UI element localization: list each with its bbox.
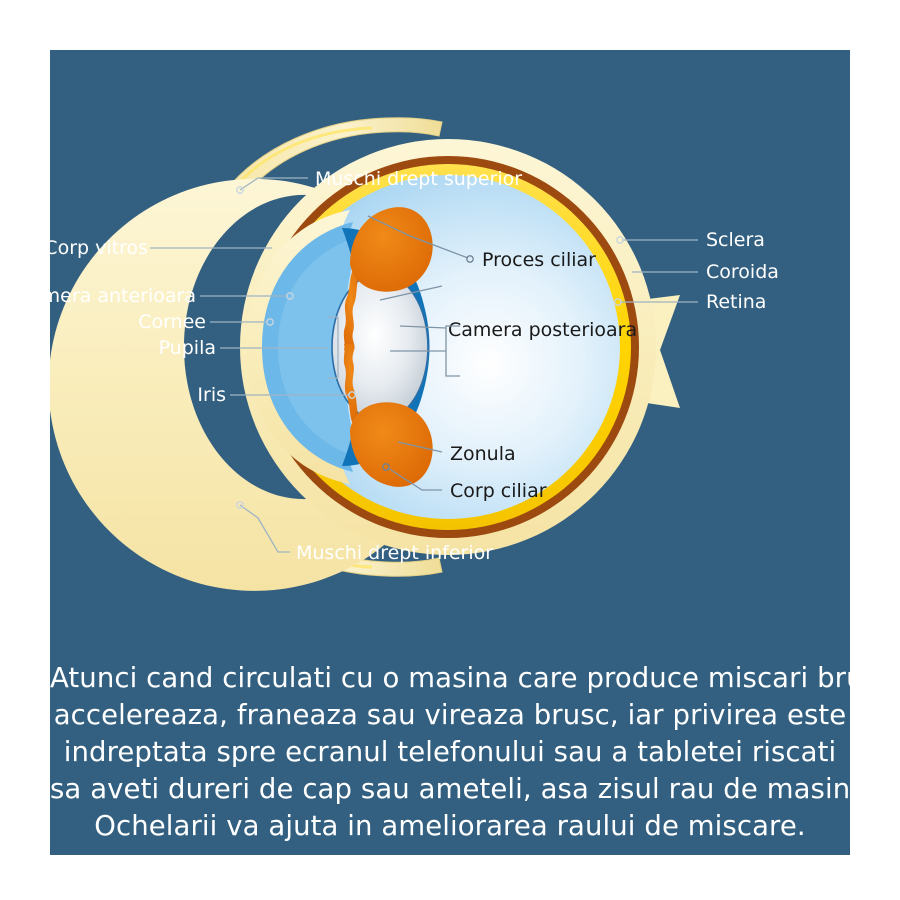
label-text: Corp vitros bbox=[50, 237, 148, 259]
label-text: Sclera bbox=[706, 229, 765, 251]
label-sclera: Sclera bbox=[617, 229, 765, 251]
label-text: Muschi drept superior bbox=[315, 168, 522, 190]
label-text: Zonula bbox=[450, 443, 516, 465]
label-text: Pupila bbox=[159, 337, 216, 359]
label-text: Camera posterioara bbox=[448, 319, 637, 341]
label-text: Camera anterioara bbox=[50, 285, 196, 307]
info-panel: Muschi drept superior Corp vitros Proces… bbox=[50, 50, 850, 855]
label-text: Corp ciliar bbox=[450, 480, 547, 502]
screenshot-root: Muschi drept superior Corp vitros Proces… bbox=[0, 0, 900, 900]
caption-line: Atunci cand circulati cu o masina care p… bbox=[50, 660, 850, 697]
caption-line: Ochelarii va ajuta in ameliorarea raului… bbox=[50, 808, 850, 845]
caption-line: accelereaza, franeaza sau vireaza brusc,… bbox=[50, 697, 850, 734]
caption-line: sa aveti dureri de cap sau ameteli, asa … bbox=[50, 771, 850, 808]
label-text: Muschi drept inferior bbox=[296, 542, 493, 564]
label-text: Cornee bbox=[138, 311, 206, 333]
label-text: Coroida bbox=[706, 261, 779, 283]
caption-block: Atunci cand circulati cu o masina care p… bbox=[50, 660, 850, 845]
label-text: Iris bbox=[197, 384, 226, 406]
eye-anatomy-diagram: Muschi drept superior Corp vitros Proces… bbox=[50, 50, 850, 610]
label-coroida: Coroida bbox=[632, 261, 779, 283]
caption-line: indreptata spre ecranul telefonului sau … bbox=[50, 734, 850, 771]
label-text: Retina bbox=[706, 291, 766, 313]
label-text: Proces ciliar bbox=[482, 249, 596, 271]
